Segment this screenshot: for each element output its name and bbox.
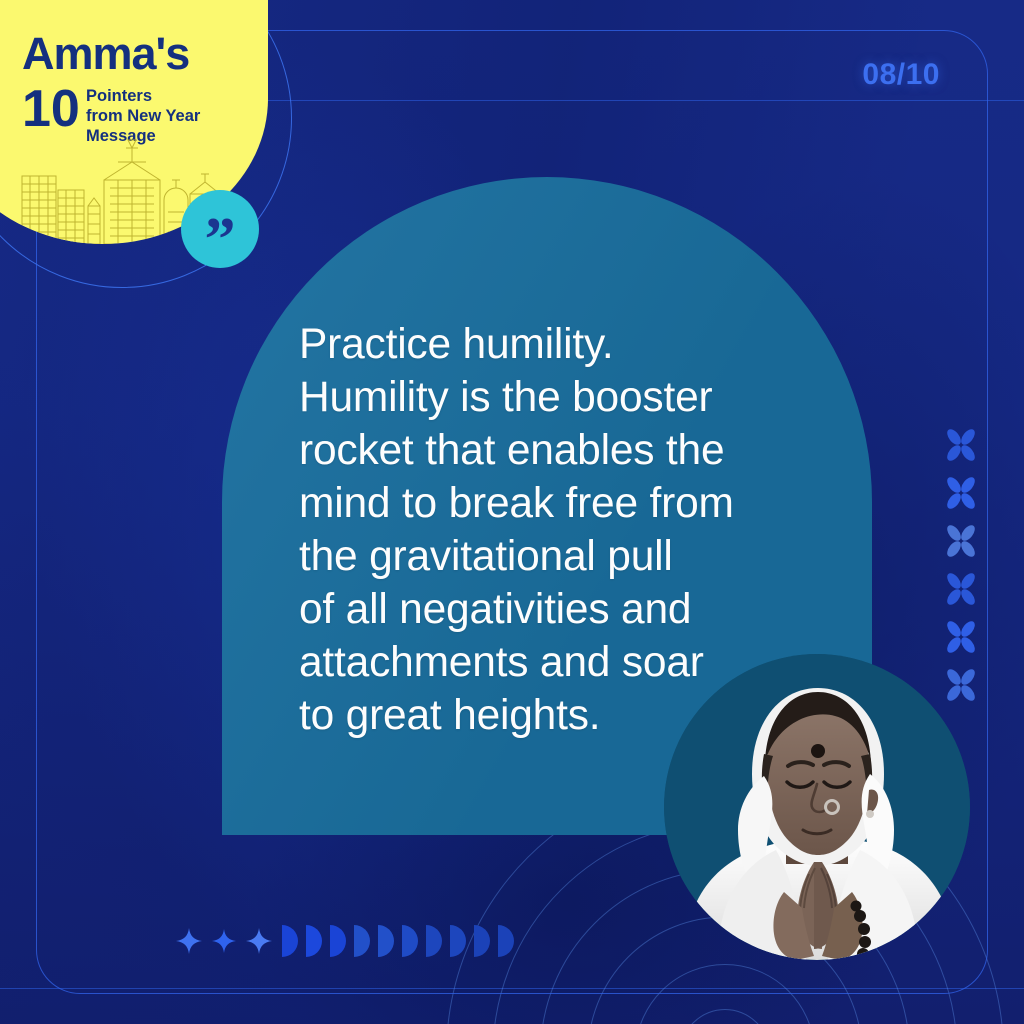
speaker-portrait-image — [664, 654, 970, 960]
four-point-star-icon — [212, 929, 236, 953]
x-ornament-icon — [941, 665, 981, 705]
half-circle-icon — [498, 925, 516, 957]
quote-mark-badge: ” — [181, 190, 259, 268]
poster-canvas: Amma's 10 Pointers from New Year Message… — [0, 0, 1024, 1024]
quote-line-6: of all negativities and — [299, 583, 859, 636]
half-circle-icon — [306, 925, 324, 957]
bottom-ornament-row — [176, 925, 522, 957]
half-circle-icon — [378, 925, 396, 957]
x-ornament-column — [936, 425, 986, 713]
quote-line-5: the gravitational pull — [299, 530, 859, 583]
half-circle-icon — [474, 925, 492, 957]
x-ornament-icon — [941, 569, 981, 609]
half-circle-icon — [402, 925, 420, 957]
x-ornament-icon — [941, 617, 981, 657]
series-subtitle-line-2: from New Year — [86, 106, 236, 126]
quote-line-1: Practice humility. — [299, 318, 859, 371]
x-ornament-icon — [941, 473, 981, 513]
page-counter: 08/10 — [862, 58, 940, 92]
half-circle-icon — [282, 925, 300, 957]
half-circle-icon — [426, 925, 444, 957]
quote-mark-icon: ” — [205, 209, 236, 271]
quote-line-2: Humility is the booster — [299, 371, 859, 424]
half-circle-icon — [354, 925, 372, 957]
half-circle-icon — [330, 925, 348, 957]
quote-line-4: mind to break free from — [299, 477, 859, 530]
series-title: Amma's — [22, 28, 189, 80]
speaker-portrait — [664, 654, 970, 960]
quote-line-3: rocket that enables the — [299, 424, 859, 477]
x-ornament-icon — [941, 425, 981, 465]
series-subtitle-line-1: Pointers — [86, 86, 236, 106]
series-number: 10 — [22, 86, 80, 134]
four-point-star-icon — [246, 928, 272, 954]
x-ornament-icon — [941, 521, 981, 561]
four-point-star-icon — [176, 928, 202, 954]
half-circle-icon — [450, 925, 468, 957]
